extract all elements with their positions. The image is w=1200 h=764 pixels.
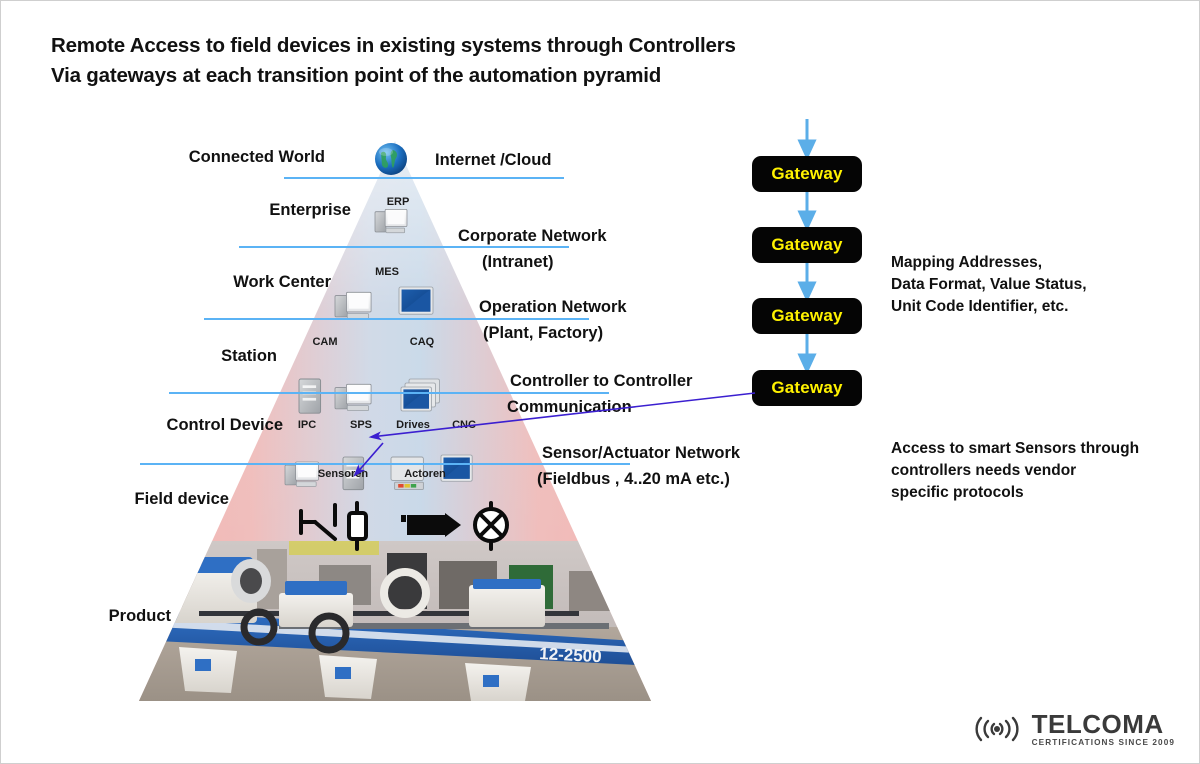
gateway-box-3[interactable]: Gateway — [752, 298, 862, 334]
tier-tag-cam: CAM — [312, 336, 337, 348]
network-internet-main: Internet /Cloud — [435, 151, 551, 169]
gateway-label-1: Gateway — [771, 164, 842, 184]
line-gateway4-to-sps — [371, 393, 755, 437]
network-operation-sub: (Plant, Factory) — [483, 321, 627, 347]
note-mapping-line-3: Unit Code Identifier, etc. — [891, 296, 1087, 318]
actuator-valve-icon — [401, 513, 461, 537]
switch-symbol-icon — [301, 505, 335, 539]
note-access: Access to smart Sensors through controll… — [891, 438, 1139, 504]
globe-icon — [373, 141, 409, 177]
note-mapping: Mapping Addresses, Data Format, Value St… — [891, 252, 1087, 318]
mes-monitor-icon — [399, 287, 433, 314]
gateway-box-4[interactable]: Gateway — [752, 370, 862, 406]
level-label-work-center: Work Center — [31, 273, 331, 292]
tier-tag-caq: CAQ — [410, 336, 434, 348]
mes-computer-icon — [335, 292, 371, 318]
controller-connector-lines — [331, 381, 761, 491]
gateway-label-4: Gateway — [771, 378, 842, 398]
level-label-product: Product — [31, 607, 171, 626]
logo-wordmark: TELCOMA — [1032, 711, 1175, 737]
lamp-symbol-icon — [475, 503, 507, 549]
note-mapping-line-1: Mapping Addresses, — [891, 252, 1087, 274]
line-sps-to-sensoren — [355, 443, 383, 475]
network-label-corporate: Corporate Network (Intranet) — [458, 224, 607, 275]
level-label-connected-world: Connected World — [31, 148, 325, 167]
network-operation-main: Operation Network — [479, 298, 627, 316]
gateway-box-1[interactable]: Gateway — [752, 156, 862, 192]
erp-computer-icon — [375, 209, 407, 232]
cam-server-icon — [299, 379, 321, 413]
tier-tag-ipc: IPC — [298, 419, 316, 431]
level-label-field-device: Field device — [31, 490, 229, 509]
level-label-enterprise: Enterprise — [31, 201, 351, 220]
note-access-line-2: controllers needs vendor — [891, 460, 1139, 482]
level-label-station: Station — [31, 347, 277, 366]
note-access-line-1: Access to smart Sensors through — [891, 438, 1139, 460]
slide-canvas: Remote Access to field devices in existi… — [0, 0, 1200, 764]
tier-tag-mes: MES — [375, 266, 399, 278]
page-title: Remote Access to field devices in existi… — [51, 31, 871, 90]
logo-tagline: CERTIFICATIONS SINCE 2009 — [1032, 739, 1175, 747]
title-line-2: Via gateways at each transition point of… — [51, 61, 871, 91]
note-access-line-3: specific protocols — [891, 482, 1139, 504]
ipc-computer-icon — [285, 462, 318, 486]
telcoma-logo: TELCOMA CERTIFICATIONS SINCE 2009 — [968, 711, 1175, 747]
network-corporate-main: Corporate Network — [458, 227, 607, 245]
gateway-label-2: Gateway — [771, 235, 842, 255]
note-mapping-line-2: Data Format, Value Status, — [891, 274, 1087, 296]
divider-internet — [284, 177, 564, 179]
network-label-operation: Operation Network (Plant, Factory) — [479, 295, 627, 346]
level-label-control-device: Control Device — [31, 416, 283, 435]
signal-waves-icon — [968, 714, 1026, 744]
logo-text-block: TELCOMA CERTIFICATIONS SINCE 2009 — [1032, 711, 1175, 747]
gateway-label-3: Gateway — [771, 306, 842, 326]
network-corporate-sub: (Intranet) — [482, 250, 607, 276]
network-label-internet: Internet /Cloud — [435, 148, 551, 174]
sensor-symbol-icon — [349, 503, 366, 549]
title-line-1: Remote Access to field devices in existi… — [51, 31, 871, 61]
gateway-box-2[interactable]: Gateway — [752, 227, 862, 263]
tier-tag-erp: ERP — [387, 196, 410, 208]
